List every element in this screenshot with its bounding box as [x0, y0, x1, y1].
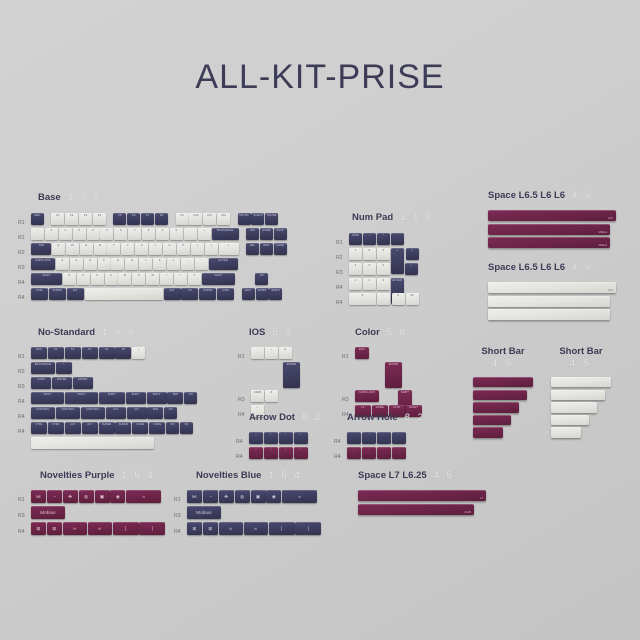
- keycap[interactable]: BACKSPACE: [31, 362, 55, 374]
- keycap-legend: CAPS LOCK: [355, 391, 379, 394]
- keycap[interactable]: 4: [87, 228, 100, 240]
- keycap[interactable]: 0: [349, 293, 376, 305]
- keycap[interactable]: F3: [79, 213, 92, 225]
- keycap[interactable]: 0: [392, 293, 405, 305]
- section-arrow-dot: Arrow Dot8 2 R4••••R4••••: [249, 412, 323, 462]
- keycap-legend: •: [249, 448, 263, 451]
- keycap[interactable]: Q: [52, 243, 65, 255]
- keycap[interactable]: ◌: [377, 432, 391, 444]
- keycap[interactable]: ∝: [282, 490, 317, 503]
- keycap-legend: SHIFT: [31, 393, 64, 396]
- keycap-legend: F8: [155, 214, 168, 217]
- keycap[interactable]: SHIFT: [31, 273, 62, 285]
- keycap[interactable]: F5: [115, 347, 131, 359]
- key-group: 0.000: [349, 293, 420, 305]
- keycap-legend: FN: [184, 393, 197, 396]
- keycap-legend: ◌: [347, 433, 361, 436]
- keycap[interactable]: ALT: [164, 288, 181, 300]
- keycap-legend: •: [294, 448, 308, 451]
- keycap[interactable]: ALT: [127, 407, 147, 419]
- keycap[interactable]: `: [251, 347, 264, 359]
- keycap[interactable]: +: [391, 248, 404, 274]
- key-row: R1ESCF1F2F3F4F5|: [18, 347, 198, 361]
- keycap-legend: ◌: [347, 448, 361, 451]
- keycap-legend: DEL: [246, 244, 259, 247]
- keycap[interactable]: P: [177, 243, 190, 255]
- spacebar[interactable]: L6.5: [488, 210, 616, 221]
- keycap[interactable]: FN: [180, 422, 193, 434]
- keycap[interactable]: CODE: [149, 422, 165, 434]
- keycap[interactable]: SHIFT: [65, 392, 98, 404]
- keycap[interactable]: ⊠: [203, 522, 218, 535]
- keycap[interactable]: F8: [155, 213, 168, 225]
- keycap-legend: 4: [87, 229, 100, 232]
- keycap[interactable]: SCRLK: [251, 213, 264, 225]
- keycap[interactable]: PRTSC: [238, 213, 251, 225]
- keycap[interactable]: 7: [128, 228, 141, 240]
- keycap[interactable]: }: [205, 243, 218, 255]
- keycap[interactable]: ⟆: [139, 522, 165, 535]
- keycap-legend: CTRL: [389, 406, 405, 409]
- keycap[interactable]: ?: [188, 273, 201, 285]
- keycap[interactable]: CTRL: [48, 422, 64, 434]
- keycap-legend: CTRL: [31, 423, 47, 426]
- keycap[interactable]: 2: [363, 278, 376, 290]
- keycap[interactable]: Y: [121, 243, 134, 255]
- section-novelties-blue-count: 1 5 4: [268, 470, 302, 481]
- keycap[interactable]: T: [107, 243, 120, 255]
- keycap[interactable]: ◍: [235, 490, 250, 503]
- keycap[interactable]: ⟆: [113, 522, 139, 535]
- keycap-legend: CONTROL: [31, 408, 55, 411]
- keycap-legend: BACKSPACE: [31, 363, 55, 366]
- key-group: ⊠⊠∞∞⟆⟆: [31, 522, 166, 535]
- keycap[interactable]: |: [219, 243, 239, 255]
- short-bar-white-items[interactable]: [551, 377, 611, 438]
- keycap[interactable]: ⋈: [187, 490, 202, 503]
- space-wine-bars[interactable]: L6.5MobiusMobius: [488, 210, 616, 248]
- keycap[interactable]: 4: [349, 263, 362, 275]
- keycap-legend: +: [391, 249, 404, 252]
- keycap-legend: F12: [217, 214, 230, 217]
- keycap[interactable]: L: [167, 258, 180, 270]
- keycap-legend: FN: [180, 423, 193, 426]
- spacebar[interactable]: L6.25: [358, 504, 474, 515]
- section-ios-count: 5 8: [272, 327, 293, 338]
- keycap[interactable]: F11: [203, 213, 216, 225]
- keycap[interactable]: •: [249, 432, 263, 444]
- keycap[interactable]: •: [294, 447, 308, 459]
- keycap[interactable]: 1: [349, 278, 362, 290]
- keycap-legend: +: [198, 229, 211, 232]
- keycap[interactable]: X: [77, 273, 90, 285]
- keycap[interactable]: F1: [51, 213, 64, 225]
- keycap[interactable]: :: [181, 258, 194, 270]
- keycap[interactable]: ◉: [110, 490, 125, 503]
- keycap[interactable]: SUPER: [115, 422, 131, 434]
- keycap-legend: CONTROL: [56, 408, 80, 411]
- key-group: ESCF1F2F3F4F5|: [31, 347, 146, 359]
- section-num-pad-count: 1 1 8: [400, 212, 434, 223]
- keycap[interactable]: J: [139, 258, 152, 270]
- spacebar[interactable]: L7: [358, 490, 486, 501]
- space-l7-bars[interactable]: L7L6.25: [358, 490, 486, 515]
- keycap[interactable]: TAB: [31, 243, 51, 255]
- keycap[interactable]: O: [163, 243, 176, 255]
- keycap[interactable]: CTRL: [217, 288, 234, 300]
- section-color: Color5 8 R1ESCENTERR3CAPS LOCKSHIFTR4LFH…: [355, 327, 423, 420]
- keycap[interactable]: V: [105, 273, 118, 285]
- key-row: R4••••: [236, 447, 323, 461]
- keycap[interactable]: CONTROL: [56, 407, 80, 419]
- spacebar[interactable]: [551, 377, 611, 387]
- keycap-legend: 1: [45, 229, 58, 232]
- keycap[interactable]: PGUP: [274, 228, 287, 240]
- keycap[interactable]: ◍: [79, 490, 94, 503]
- keycap[interactable]: F9: [176, 213, 189, 225]
- keycap[interactable]: SHIFT: [99, 392, 125, 404]
- space-white-bars[interactable]: L6.5: [488, 282, 616, 320]
- keycap[interactable]: CTRL: [31, 288, 48, 300]
- keycap[interactable]: N: [132, 273, 145, 285]
- row-label: R3: [18, 506, 31, 523]
- keycap[interactable]: 3: [377, 278, 390, 290]
- key-group: ◌◌◌◌: [347, 432, 407, 444]
- spacebar[interactable]: [473, 427, 503, 437]
- keycap[interactable]: ☘: [219, 490, 234, 503]
- keycap[interactable]: 5: [363, 263, 376, 275]
- keycap[interactable]: ÷: [405, 263, 418, 275]
- keycap[interactable]: S: [70, 258, 83, 270]
- keycap[interactable]: ∞: [63, 522, 87, 535]
- row-label: R1: [174, 490, 187, 507]
- keycap[interactable]: F1: [48, 347, 64, 359]
- keycap-legend: FN: [164, 408, 177, 411]
- key-row: R3Mobius: [174, 506, 322, 521]
- keycap[interactable]: ENTER: [283, 362, 300, 388]
- keycap-legend: FN: [166, 423, 179, 426]
- keycap[interactable]: |: [132, 347, 145, 359]
- keycap[interactable]: ⊠: [31, 522, 46, 535]
- keycap[interactable]: 1: [45, 228, 58, 240]
- keycap[interactable]: LEFT: [242, 288, 255, 300]
- keycap[interactable]: 5: [100, 228, 113, 240]
- keycap[interactable]: HOME: [260, 228, 273, 240]
- keycap[interactable]: ⊠: [187, 522, 202, 535]
- keycap[interactable]: *: [377, 233, 390, 245]
- keycap[interactable]: ALT: [82, 422, 98, 434]
- section-short-bar-wine-label: Short Bar4 5: [473, 346, 533, 370]
- keycap[interactable]: ◌: [347, 432, 361, 444]
- keycap-legend: |: [219, 244, 239, 247]
- keycap-legend: 5: [363, 264, 376, 267]
- keycap[interactable]: F5: [113, 213, 126, 225]
- keycap[interactable]: 8: [363, 248, 376, 260]
- keycap[interactable]: FN: [166, 422, 179, 434]
- base-keyboard[interactable]: R1ESCF1F2F3F4F5F6F7F8F9F10F11F12PRTSCSCR…: [18, 213, 288, 302]
- key-row: R3Mobius: [18, 506, 166, 521]
- keycap[interactable]: SHIFT: [202, 273, 235, 285]
- keycap[interactable]: BACKSPACE: [212, 228, 239, 240]
- keycap[interactable]: I: [149, 243, 162, 255]
- spacebar[interactable]: [551, 427, 581, 437]
- keycap-legend: SUPER: [99, 423, 115, 426]
- keycap[interactable]: [31, 437, 154, 449]
- keycap[interactable]: E: [80, 243, 93, 255]
- keycap[interactable]: SHIFT: [126, 392, 146, 404]
- keycap[interactable]: •: [294, 432, 308, 444]
- keycap[interactable]: F4: [99, 347, 115, 359]
- keycap[interactable]: ESC: [31, 347, 47, 359]
- keycap[interactable]: 3: [73, 228, 86, 240]
- keycap[interactable]: 2: [59, 228, 72, 240]
- keycap[interactable]: F12: [217, 213, 230, 225]
- spacebar[interactable]: [473, 415, 511, 425]
- keycap[interactable]: CODE: [132, 422, 148, 434]
- keycap[interactable]: F2: [65, 347, 81, 359]
- section-ios-label: IOS5 8: [249, 327, 301, 339]
- keycap[interactable]: FN: [181, 288, 198, 300]
- keycap[interactable]: ENTER: [209, 258, 238, 270]
- keycap[interactable]: 7: [349, 248, 362, 260]
- keycap[interactable]: F6: [127, 213, 140, 225]
- keycap[interactable]: D: [84, 258, 97, 270]
- keycap[interactable]: R: [94, 243, 107, 255]
- keycap[interactable]: CTRL: [31, 422, 47, 434]
- keycap[interactable]: W: [66, 243, 79, 255]
- keycap-legend: 6: [279, 348, 292, 351]
- keycap[interactable]: SUPER: [199, 288, 216, 300]
- keycap-legend: CTRL: [217, 289, 234, 292]
- keycap[interactable]: /: [363, 233, 376, 245]
- keycap[interactable]: ⊠: [47, 522, 62, 535]
- section-arrow-hole-count: 8 2: [405, 412, 426, 423]
- keycap[interactable]: ◔: [203, 490, 218, 503]
- keycap[interactable]: DEL: [246, 243, 259, 255]
- keycap[interactable]: ◌: [362, 432, 376, 444]
- key-group: 456÷: [349, 263, 419, 275]
- keycap[interactable]: UP: [255, 273, 268, 285]
- section-ios: IOS5 8 R1`~6ENTERR3CAPS#R4\: [249, 327, 301, 420]
- keycap[interactable]: •: [264, 447, 278, 459]
- keycap[interactable]: SHIFT: [31, 392, 64, 404]
- keycap-legend: ◌: [362, 433, 376, 436]
- keycap[interactable]: ▣: [95, 490, 110, 503]
- spacebar[interactable]: [551, 390, 605, 400]
- spacebar[interactable]: [488, 309, 610, 320]
- keycap-legend: 3: [377, 279, 390, 282]
- keycap-legend: ◉: [110, 490, 125, 503]
- keycap[interactable]: CAPS: [251, 390, 264, 402]
- keycap[interactable]: WIN: [147, 407, 163, 419]
- keycap[interactable]: 2ND: [167, 392, 183, 404]
- keycap[interactable]: ~: [31, 228, 44, 240]
- keycap[interactable]: ESC: [355, 347, 369, 359]
- novelties-purple-keys[interactable]: R1⋈◔☘◍▣◉∝R3MobiusR4⊠⊠∞∞⟆⟆: [18, 490, 166, 537]
- keycap[interactable]: ∞: [88, 522, 112, 535]
- keycap[interactable]: F3: [82, 347, 98, 359]
- keycap[interactable]: CONTROL: [81, 407, 105, 419]
- keycap[interactable]: <: [160, 273, 173, 285]
- key-group: CONTROLCONTROLCONTROLALTALTWINFN: [31, 407, 178, 419]
- color-keys[interactable]: R1ESCENTERR3CAPS LOCKSHIFTR4LFHOMECTRLRI…: [342, 347, 423, 419]
- keycap-legend: CTRL: [31, 289, 48, 292]
- keycap[interactable]: ∞: [219, 522, 243, 535]
- keycap[interactable]: ◌: [392, 447, 406, 459]
- keycap[interactable]: ": [195, 258, 208, 270]
- keycap[interactable]: ◌: [362, 447, 376, 459]
- novelties-blue-keys[interactable]: R1⋈◔☘◍▣◉∝R3MobiusR4⊠⊠∞∞⟆⟆: [174, 490, 322, 537]
- keycap-legend: -: [391, 234, 404, 237]
- keycap[interactable]: #: [265, 390, 278, 402]
- keycap-legend: ⋈: [31, 490, 46, 503]
- keycap[interactable]: 9: [156, 228, 169, 240]
- keycap-legend: N: [132, 274, 145, 277]
- keycap[interactable]: 9: [377, 248, 390, 260]
- keycap[interactable]: Mobius: [187, 506, 221, 519]
- spacebar[interactable]: Mobius: [488, 237, 610, 248]
- key-group: ESC: [355, 347, 370, 359]
- keycap-legend: HOME: [260, 229, 273, 232]
- keycap[interactable]: INS: [246, 228, 259, 240]
- keycap[interactable]: NUM: [349, 233, 362, 245]
- keycap[interactable]: RIGHT: [269, 288, 282, 300]
- keycap[interactable]: -: [184, 228, 197, 240]
- keycap-legend: CTRL: [48, 423, 64, 426]
- spacebar[interactable]: [473, 377, 533, 387]
- keycap[interactable]: 0: [170, 228, 183, 240]
- keycap[interactable]: SUPER: [49, 288, 66, 300]
- keycap[interactable]: F: [98, 258, 111, 270]
- keycap[interactable]: ◉: [266, 490, 281, 503]
- keycap[interactable]: ALT: [67, 288, 84, 300]
- keycap[interactable]: •: [249, 447, 263, 459]
- keycap[interactable]: M: [146, 273, 159, 285]
- keycap[interactable]: =: [406, 248, 419, 260]
- arrow-dot-keys[interactable]: R4••••R4••••: [236, 432, 323, 461]
- keycap[interactable]: K: [153, 258, 166, 270]
- keycap[interactable]: CAPS LOCK: [355, 390, 379, 402]
- keycap[interactable]: ENTER: [385, 362, 402, 388]
- nostandard-keyboard[interactable]: R1ESCF1F2F3F4F5|R2BACKSPACE\R3CAPSENTERE…: [18, 347, 198, 451]
- keycap[interactable]: CAPS LOCK: [31, 258, 55, 270]
- keycap[interactable]: •: [264, 432, 278, 444]
- keycap-legend: ENTER: [385, 363, 402, 366]
- spacebar[interactable]: Mobius: [488, 224, 610, 235]
- keycap[interactable]: 00: [406, 293, 419, 305]
- keycap[interactable]: \: [56, 362, 72, 374]
- keycap[interactable]: •: [279, 432, 293, 444]
- keycap-legend: SCRLK: [251, 214, 264, 217]
- spacebar[interactable]: [473, 402, 519, 412]
- keycap[interactable]: 6: [279, 347, 292, 359]
- keycap[interactable]: ◌: [392, 432, 406, 444]
- keycap-legend: 3: [73, 229, 86, 232]
- key-group: ENTER: [251, 362, 301, 388]
- short-bar-wine-items[interactable]: [473, 377, 533, 438]
- keycap[interactable]: ∞: [244, 522, 268, 535]
- keycap[interactable]: FN: [184, 392, 197, 404]
- row-label: R4: [174, 522, 187, 539]
- keycap[interactable]: ⋈: [31, 490, 46, 503]
- keycap-legend: Q: [52, 244, 65, 247]
- keycap-legend: `: [251, 348, 264, 351]
- keycap[interactable]: ☘: [63, 490, 78, 503]
- keycap[interactable]: DOWN: [256, 288, 269, 300]
- keycap[interactable]: ALT: [106, 407, 126, 419]
- keycap-legend: F3: [79, 214, 92, 217]
- keycap[interactable]: ENTER: [73, 377, 93, 389]
- keycap[interactable]: ~: [265, 347, 278, 359]
- keycap[interactable]: +: [198, 228, 211, 240]
- keycap[interactable]: ▣: [251, 490, 266, 503]
- keycap[interactable]: Z: [63, 273, 76, 285]
- keycap[interactable]: F10: [189, 213, 202, 225]
- keycap[interactable]: F2: [65, 213, 78, 225]
- keycap[interactable]: SUPER: [99, 422, 115, 434]
- keycap[interactable]: -: [391, 233, 404, 245]
- keycap[interactable]: [85, 288, 163, 300]
- spacebar[interactable]: L6.5: [488, 282, 616, 293]
- keycap[interactable]: B: [118, 273, 131, 285]
- keycap[interactable]: ALT: [65, 422, 81, 434]
- spacebar[interactable]: [488, 296, 610, 307]
- spacebar[interactable]: [473, 390, 527, 400]
- keycap[interactable]: PAUSE: [265, 213, 278, 225]
- keycap[interactable]: Mobius: [31, 506, 65, 519]
- keycap[interactable]: >: [174, 273, 187, 285]
- keycap[interactable]: ⟆: [295, 522, 321, 535]
- keycap[interactable]: ◌: [377, 447, 391, 459]
- keycap[interactable]: ⟆: [269, 522, 295, 535]
- ios-keys[interactable]: R1`~6ENTERR3CAPS#R4\: [238, 347, 301, 419]
- keycap[interactable]: CAPS: [31, 377, 51, 389]
- keycap[interactable]: 6: [377, 263, 390, 275]
- keycap[interactable]: ◌: [347, 447, 361, 459]
- keycap[interactable]: F4: [93, 213, 106, 225]
- keycap[interactable]: 6: [114, 228, 127, 240]
- keycap[interactable]: .: [377, 293, 390, 305]
- keycap[interactable]: CONTROL: [31, 407, 55, 419]
- keycap[interactable]: ◔: [47, 490, 62, 503]
- keycap[interactable]: ESC: [31, 213, 44, 225]
- key-row: ENTER: [238, 362, 301, 389]
- keycap[interactable]: U: [135, 243, 148, 255]
- section-short-bar-white: Short Bar4 5: [551, 346, 611, 440]
- keycap[interactable]: A: [56, 258, 69, 270]
- keycap[interactable]: END: [260, 243, 273, 255]
- spacebar[interactable]: [551, 402, 597, 412]
- arrow-hole-keys[interactable]: R4◌◌◌◌R4◌◌◌◌: [334, 432, 425, 461]
- keycap[interactable]: H: [125, 258, 138, 270]
- keycap[interactable]: {: [191, 243, 204, 255]
- numpad-keyboard[interactable]: R1NUM/*-R2789+=R3456÷R4123ENTERR40.000: [336, 233, 434, 307]
- keycap[interactable]: G: [111, 258, 124, 270]
- keycap[interactable]: SHIFT: [147, 392, 167, 404]
- keycap[interactable]: ∝: [126, 490, 161, 503]
- keycap[interactable]: ENTER: [52, 377, 72, 389]
- keycap-legend: ∞: [219, 522, 243, 535]
- keycap[interactable]: F7: [141, 213, 154, 225]
- keycap[interactable]: FN: [164, 407, 177, 419]
- spacebar[interactable]: [551, 415, 589, 425]
- keycap[interactable]: C: [91, 273, 104, 285]
- keycap[interactable]: PGDN: [274, 243, 287, 255]
- keycap[interactable]: 8: [142, 228, 155, 240]
- keycap[interactable]: •: [279, 447, 293, 459]
- keycap-legend: ◌: [362, 448, 376, 451]
- keycap-legend: •: [264, 433, 278, 436]
